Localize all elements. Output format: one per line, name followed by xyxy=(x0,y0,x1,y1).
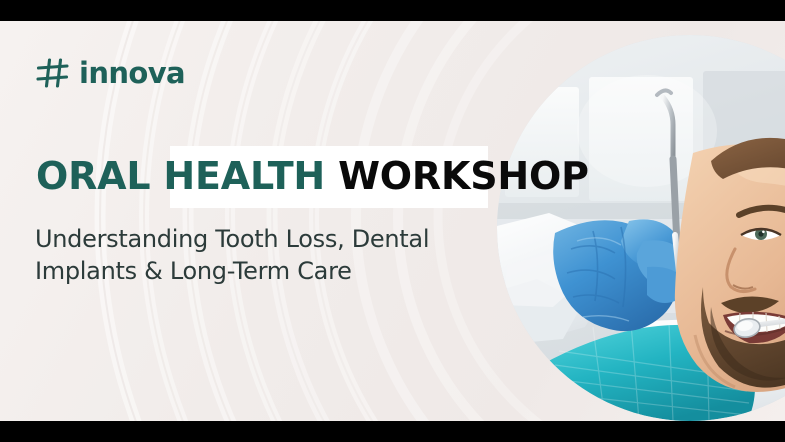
innova-logo[interactable]: innova xyxy=(36,57,185,89)
headline-space xyxy=(325,154,338,198)
letterbox-bar-top xyxy=(0,0,785,21)
innova-wordmark: innova xyxy=(79,59,185,88)
slide-artboard: innova ORAL HEALTH WORKSHOP Understandin… xyxy=(0,21,785,421)
letterbox-bar-bottom xyxy=(0,421,785,442)
subtitle-line-1: Understanding Tooth Loss, Dental xyxy=(35,224,455,256)
slide-canvas: innova ORAL HEALTH WORKSHOP Understandin… xyxy=(0,0,785,442)
subtitle-line-2: Implants & Long-Term Care xyxy=(35,256,455,288)
page-subtitle: Understanding Tooth Loss, Dental Implant… xyxy=(35,224,455,287)
headline-part-secondary: WORKSHOP xyxy=(338,154,589,198)
page-title: ORAL HEALTH WORKSHOP xyxy=(36,157,589,195)
headline-part-primary: ORAL HEALTH xyxy=(36,154,325,198)
innova-hash-mark-icon xyxy=(36,57,70,89)
